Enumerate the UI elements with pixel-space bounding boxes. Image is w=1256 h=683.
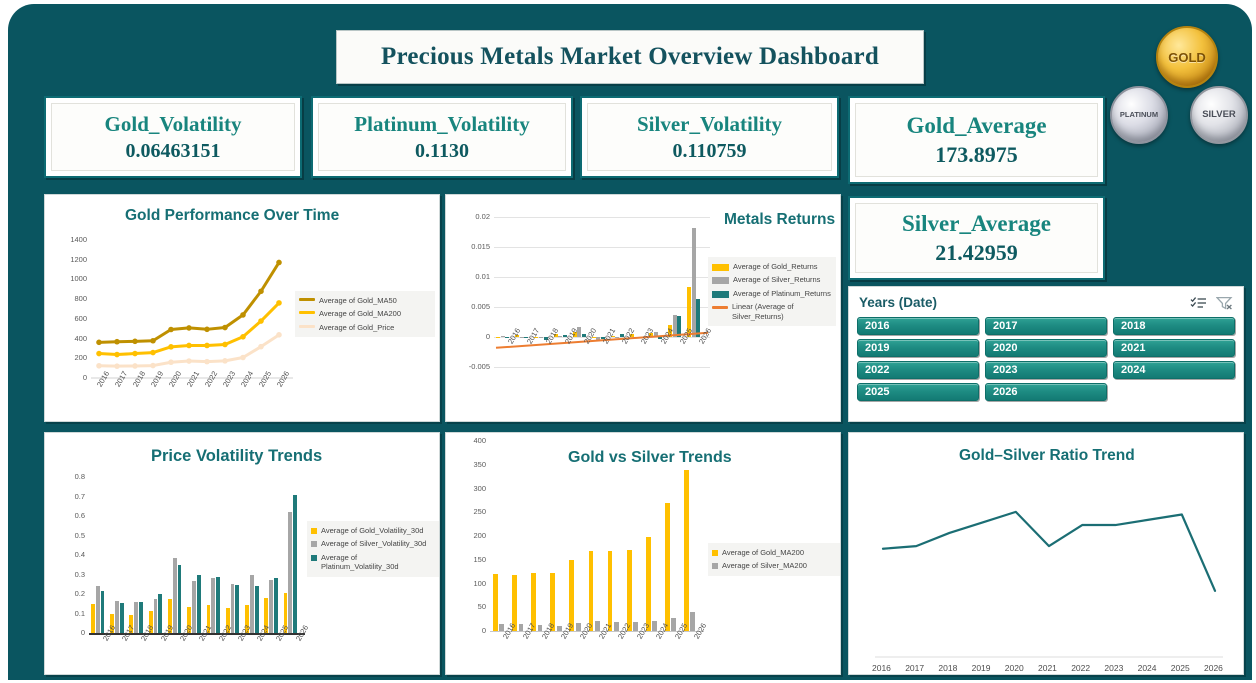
bar-2017-0 — [512, 575, 517, 631]
bar-2025-1 — [671, 618, 676, 631]
y-axis-tick: 250 — [452, 507, 486, 516]
legend-item: Average of Gold_Volatility_30d — [311, 526, 435, 535]
legend-swatch — [712, 563, 718, 569]
bar-2016-2 — [101, 591, 105, 633]
legend-item: Average of Gold_MA50 — [299, 296, 431, 305]
legend-label: Linear (Average of Silver_Returns) — [732, 302, 832, 321]
y-axis-tick: 0.8 — [51, 472, 85, 481]
y-axis-tick: 100 — [452, 579, 486, 588]
legend-item: Average of Gold_Returns — [712, 262, 832, 271]
legend-label: Average of Platinum_Returns — [733, 289, 831, 298]
kpi-label: Platinum_Volatility — [354, 112, 529, 137]
legend-swatch — [712, 264, 729, 271]
slicer-item-2016[interactable]: 2016 — [857, 317, 979, 335]
bar-2022-1 — [211, 578, 215, 633]
y-axis-tick: 0.7 — [51, 492, 85, 501]
y-axis-tick: 0.2 — [51, 589, 85, 598]
x-axis-tick: 2023 — [1104, 663, 1123, 673]
chart-legend: Average of Gold_MA50 Average of Gold_MA2… — [295, 291, 435, 337]
legend-item: Average of Gold_Price — [299, 323, 431, 332]
x-axis-tick: 2024 — [1138, 663, 1157, 673]
bar-2020-1 — [173, 558, 177, 633]
y-axis-tick: 50 — [452, 602, 486, 611]
slicer-item-2025[interactable]: 2025 — [857, 383, 979, 401]
kpi-label: Silver_Volatility — [637, 112, 782, 137]
legend-swatch — [712, 291, 729, 298]
x-axis-tick: 2026 — [1204, 663, 1223, 673]
bar-2026-2 — [293, 495, 297, 633]
page-title: Precious Metals Market Overview Dashboar… — [381, 43, 879, 71]
legend-swatch — [712, 277, 729, 284]
legend-swatch — [712, 550, 718, 556]
kpi-label: Gold_Volatility — [105, 112, 242, 137]
chart-panel-price-volatility: Price Volatility Trends 0.80.70.60.50.40… — [44, 432, 440, 675]
legend-item: Average of Silver_Volatility_30d — [311, 539, 435, 548]
bar-2026-1 — [690, 612, 695, 631]
slicer-item-2017[interactable]: 2017 — [985, 317, 1107, 335]
y-axis-tick: 0.5 — [51, 531, 85, 540]
legend-item: Average of Gold_MA200 — [299, 309, 431, 318]
bar-2021-0 — [589, 551, 594, 631]
bar-2021-1 — [192, 581, 196, 633]
gold-coin-icon: GOLD — [1156, 26, 1218, 88]
bar-2020-0 — [569, 560, 574, 631]
y-axis-tick: 0.6 — [51, 511, 85, 520]
kpi-card-silver-volatility: Silver_Volatility 0.110759 — [580, 96, 839, 178]
legend-item: Average of Gold_MA200 — [712, 548, 836, 557]
kpi-value: 173.8975 — [935, 142, 1018, 168]
slicer-toolbar — [1190, 296, 1233, 315]
slicer-item-2019[interactable]: 2019 — [857, 339, 979, 357]
bar-2023-1 — [231, 584, 235, 633]
kpi-label: Silver_Average — [902, 211, 1051, 237]
bar-2021-2 — [197, 575, 201, 633]
legend-label: Average of Gold_Price — [319, 323, 394, 332]
slicer-items[interactable]: 2016201720182019202020212022202320242025… — [857, 317, 1235, 401]
legend-label: Average of Gold_Volatility_30d — [321, 526, 423, 535]
bar-2025-0 — [665, 503, 670, 631]
slicer-item-2022[interactable]: 2022 — [857, 361, 979, 379]
slicer-item-2021[interactable]: 2021 — [1113, 339, 1235, 357]
kpi-value: 0.110759 — [673, 140, 747, 163]
chart-legend: Average of Gold_MA200 Average of Silver_… — [708, 543, 840, 576]
legend-swatch — [311, 528, 317, 534]
clear-filter-icon[interactable] — [1216, 296, 1233, 315]
legend-label: Average of Silver_MA200 — [722, 561, 807, 570]
slicer-item-2023[interactable]: 2023 — [985, 361, 1107, 379]
years-slicer-panel: Years (Date) 201620172018201920202021202… — [848, 286, 1244, 422]
y-axis-tick: 350 — [452, 460, 486, 469]
chart-panel-gold-performance: Gold Performance Over Time 1400120010008… — [44, 194, 440, 422]
metal-badges: GOLD PLATINUM SILVER — [1102, 24, 1252, 174]
x-axis-tick: 2019 — [972, 663, 991, 673]
bar-2024-2 — [255, 586, 259, 633]
kpi-value: 0.1130 — [415, 140, 469, 163]
y-axis-tick: 0 — [452, 626, 486, 635]
kpi-label: Gold_Average — [906, 113, 1046, 139]
legend-swatch — [712, 306, 728, 309]
dashboard-title-card: Precious Metals Market Overview Dashboar… — [336, 30, 924, 84]
legend-label: Average of Silver_Returns — [733, 275, 820, 284]
bar-2022-0 — [608, 551, 613, 631]
bar-2024-1 — [250, 575, 254, 633]
legend-label: Average of Gold_MA200 — [319, 309, 401, 318]
chart-title: Price Volatility Trends — [151, 447, 322, 466]
legend-item: Linear (Average of Silver_Returns) — [712, 302, 832, 321]
slicer-item-2026[interactable]: 2026 — [985, 383, 1107, 401]
bar-2021-1 — [595, 621, 600, 631]
bar-2025-2 — [274, 578, 278, 633]
bar-2024-0 — [646, 537, 651, 631]
silver-coin-icon: SILVER — [1190, 86, 1248, 144]
bar-2026-0 — [684, 470, 689, 631]
bar-2019-2 — [158, 594, 162, 633]
legend-label: Average of Platinum_Volatility_30d — [321, 553, 435, 572]
x-axis-tick: 2018 — [938, 663, 957, 673]
bar-2020-2 — [178, 565, 182, 633]
chart-panel-gold-silver-ratio: Gold–Silver Ratio Trend 2016201720182019… — [848, 432, 1244, 675]
slicer-item-2020[interactable]: 2020 — [985, 339, 1107, 357]
y-axis-tick: 200 — [452, 531, 486, 540]
bar-2022-1 — [614, 622, 619, 632]
bar-2017-2 — [120, 603, 124, 633]
legend-swatch — [299, 298, 315, 301]
kpi-card-silver-average: Silver_Average 21.42959 — [848, 196, 1105, 280]
kpi-value: 21.42959 — [935, 240, 1018, 266]
kpi-card-gold-average: Gold_Average 173.8975 — [848, 96, 1105, 184]
dashboard-canvas: Precious Metals Market Overview Dashboar… — [8, 4, 1252, 680]
line-series-group — [849, 433, 1245, 676]
legend-item: Average of Platinum_Volatility_30d — [311, 553, 435, 572]
bar-2025-1 — [269, 580, 273, 633]
bar-2016-0 — [493, 574, 498, 631]
legend-swatch — [299, 325, 315, 328]
bar-2022-2 — [216, 577, 220, 633]
chart-panel-gold-vs-silver: Gold vs Silver Trends 400350300250200150… — [445, 432, 841, 675]
chart-title: Gold vs Silver Trends — [568, 449, 732, 467]
x-axis-tick: 2025 — [1171, 663, 1190, 673]
legend-item: Average of Platinum_Returns — [712, 289, 832, 298]
legend-label: Average of Gold_MA50 — [319, 296, 397, 305]
slicer-title: Years (Date) — [859, 295, 937, 310]
x-axis-tick: 2021 — [1038, 663, 1057, 673]
legend-swatch — [311, 555, 317, 561]
bar-2023-0 — [627, 550, 632, 631]
x-axis-tick: 2022 — [1071, 663, 1090, 673]
y-axis-tick: 0.3 — [51, 570, 85, 579]
kpi-value: 0.06463151 — [126, 140, 221, 163]
x-axis-tick: 2017 — [905, 663, 924, 673]
bar-2020-1 — [576, 623, 581, 631]
legend-label: Average of Gold_MA200 — [722, 548, 804, 557]
chart-legend: Average of Gold_Volatility_30d Average o… — [307, 521, 439, 577]
y-axis-tick: 300 — [452, 484, 486, 493]
legend-item: Average of Silver_MA200 — [712, 561, 836, 570]
y-axis-tick: 400 — [452, 436, 486, 445]
bar-2016-1 — [96, 586, 100, 633]
bar-2016-0 — [91, 604, 95, 633]
kpi-card-platinum-volatility: Platinum_Volatility 0.1130 — [311, 96, 573, 178]
bar-2026-1 — [288, 512, 292, 633]
chart-legend: Average of Gold_Returns Average of Silve… — [708, 257, 836, 326]
slicer-item-2018[interactable]: 2018 — [1113, 317, 1235, 335]
chart-panel-metals-returns: Metals Returns 0.020.0150.010.0050-0.005… — [445, 194, 841, 422]
legend-swatch — [311, 541, 317, 547]
bar-2017-1 — [519, 624, 524, 631]
y-axis-tick: 150 — [452, 555, 486, 564]
bar-2018-2 — [139, 602, 143, 633]
legend-swatch — [299, 311, 315, 314]
multi-select-icon[interactable] — [1190, 296, 1207, 315]
y-axis-tick: 0 — [51, 628, 85, 637]
y-axis-tick: 0.4 — [51, 550, 85, 559]
x-axis-tick: 2020 — [1005, 663, 1024, 673]
legend-item: Average of Silver_Returns — [712, 275, 832, 284]
y-axis-tick: 0.1 — [51, 609, 85, 618]
x-axis-tick: 2016 — [872, 663, 891, 673]
legend-label: Average of Gold_Returns — [733, 262, 818, 271]
slicer-item-2024[interactable]: 2024 — [1113, 361, 1235, 379]
kpi-card-gold-volatility: Gold_Volatility 0.06463151 — [44, 96, 302, 178]
legend-label: Average of Silver_Volatility_30d — [321, 539, 426, 548]
platinum-coin-icon: PLATINUM — [1110, 86, 1168, 144]
bar-2023-2 — [235, 585, 239, 633]
